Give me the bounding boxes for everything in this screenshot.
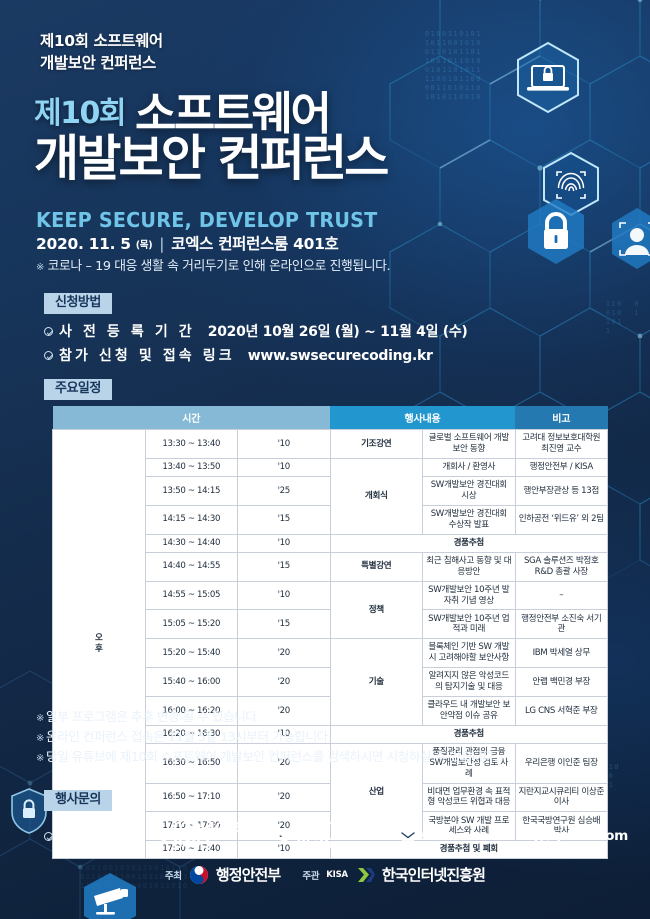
title-line2: 개발보안 컨퍼런스 [34,134,554,184]
section-badge-apply: 신청방법 [44,293,112,314]
cell-duration: '10 [238,458,331,476]
binary-code-texture-b: 110 0 010 1 101 1 [606,300,640,336]
cell-time: 15:05 ~ 15:20 [145,610,238,639]
apply-info-block: 사 전 등 록 기 간 2020년 10월 26일 (월) ~ 11월 4일 (… [44,321,468,369]
covid-notice: ※ 코로나 – 19 대응 생활 속 거리두기로 인해 온라인으로 진행됩니다. [36,255,390,274]
host-group: 주최 행정안전부 [165,864,280,885]
cell-speaker-note: 지란지교시큐리티 이상준 이사 [515,783,608,812]
cell-speaker-note: 행정안전부 소진숙 서기관 [515,610,608,639]
check-circle-icon [44,327,53,336]
face-id-icon [608,206,650,272]
event-venue: 코엑스 컨퍼런스룸 401호 [171,232,338,254]
cell-speaker-note: 안랩 백민경 부장 [515,668,608,697]
fax-icon [277,830,291,843]
apply-period-label: 사 전 등 록 기 간 [59,321,195,341]
cell-session-title: SW개발보안 경진대회 시상 [423,476,516,505]
cell-duration: '15 [238,505,331,534]
footer-logos: 주최 행정안전부 주관 KISA 한국인터넷진흥원 [0,864,650,885]
apply-period-value: 2020년 10월 26일 (월) ~ 11월 4일 (수) [208,321,468,341]
cell-time: 13:30 ~ 13:40 [145,430,238,459]
note-line: ※일부 프로그램은 추후 변경 될 수 있습니다. [36,707,498,727]
note-text: 온라인 컨퍼런스 접속은 11월 5일 13시부터 가능합니다. [46,729,331,744]
host-label: 주최 [165,868,182,882]
kisa-wordmark: KISA [326,870,348,880]
inquiry-fax-number: 070-7545-8526 [296,820,378,852]
mini-title-line2: 개발보안 컨퍼런스 [40,52,163,74]
organizer-name: 한국인터넷진흥원 [382,864,485,885]
note-line: ※온라인 컨퍼런스 접속은 11월 5일 13시부터 가능합니다. [36,727,498,747]
cell-time: 14:15 ~ 14:30 [145,505,238,534]
envelope-icon [401,830,415,843]
inquiry-contact-row: 운 영 사 무 국 070-4006-8493 070-7545-8526 sw… [44,816,650,856]
schedule-table-body: 오 후13:30 ~ 13:40'10기조강연글로벌 소프트웨어 개발보안 동향… [53,430,608,859]
table-row: 오 후13:30 ~ 13:40'10기조강연글로벌 소프트웨어 개발보안 동향… [53,430,608,459]
organizer-label: 주관 [302,868,319,882]
cell-duration: '10 [238,581,331,610]
cell-session-title: 비대면 업무환경 속 표적형 악성코드 위협과 대응 [423,783,516,812]
padlock-icon [524,196,588,268]
cell-session-title: 블록체인 기반 SW 개발 시 고려해야할 보안사항 [423,639,516,668]
section-badge-schedule: 주요일정 [44,379,112,400]
government-taegeuk-icon [189,865,209,885]
cell-session-title: SW개발보안 10주년 업적과 미래 [423,610,516,639]
cell-session-title: SW개발보안 경진대회 수상작 발표 [423,505,516,534]
mini-title: 제10회 소프트웨어 개발보안 컨퍼런스 [40,30,163,74]
title-ordinal: 제10회 [34,88,125,136]
cell-speaker-note: LG CNS 서혁준 부장 [515,696,608,725]
cell-duration: '20 [238,783,331,812]
apply-link-label: 참가 신청 및 접속 링크 [59,345,235,365]
cell-speaker-note: 행정안전부 / KISA [515,458,608,476]
note-text: 일부 프로그램은 추후 변경 될 수 있습니다. [46,709,260,724]
note-asterisk: ※ [36,733,44,744]
cell-speaker-note: 우리은행 이인준 팀장 [515,743,608,783]
cell-duration: '20 [238,668,331,697]
covid-notice-text: 코로나 – 19 대응 생활 속 거리두기로 인해 온라인으로 진행됩니다. [48,259,391,274]
cell-speaker-note: IBM 박세열 상무 [515,639,608,668]
apply-row: 참가 신청 및 접속 링크 www.swsecurecoding.kr [44,345,468,365]
inquiry-fax[interactable]: 070-7545-8526 [277,820,378,852]
section-badge-inquiry: 행사문의 [44,790,112,811]
event-date: 2020. 11. 5 [36,235,131,253]
schedule-header-row: 시간 행사내용 비고 [53,406,608,430]
cell-category: 특별강연 [330,552,423,581]
page-title: 제10회 소프트웨어 개발보안 컨퍼런스 [34,88,554,184]
mini-title-line1: 제10회 소프트웨어 [40,30,163,52]
cell-session-title: 개회사 / 환영사 [423,458,516,476]
cell-duration: '15 [238,610,331,639]
inquiry-org-label: 운 영 사 무 국 [59,816,142,856]
covid-asterisk: ※ [36,262,44,273]
apply-row: 사 전 등 록 기 간 2020년 10월 26일 (월) ~ 11월 4일 (… [44,321,468,341]
cell-session-title: SW개발보안 10주년 발자취 기념 영상 [423,581,516,610]
cell-full-width-note: 경품추첨 [330,534,608,552]
kisa-logo-icon [355,866,375,884]
cell-duration: '15 [238,552,331,581]
notes-block: ※일부 프로그램은 추후 변경 될 수 있습니다. ※온라인 컨퍼런스 접속은 … [36,707,498,767]
schedule-table: 시간 행사내용 비고 오 후13:30 ~ 13:40'10기조강연글로벌 소프… [52,406,608,859]
note-text: 당일 유튜브에 제10회 소프트웨어 개발보안 컨퍼런스를 검색하시면 시청하실… [46,749,498,764]
cell-speaker-note: SGA 솔루션즈 박정호 R&D 총괄 사장 [515,552,608,581]
cell-time: 14:30 ~ 14:40 [145,534,238,552]
cell-session-title: 알려지지 않은 악성코드의 탐지기술 및 대응 [423,668,516,697]
cell-speaker-note: 고려대 정보보호대학원 최진영 교수 [515,430,608,459]
cell-category: 기조강연 [330,430,423,459]
check-circle-icon [44,832,53,841]
column-header-time: 시간 [53,406,331,430]
cell-speaker-note: 인하공전 ‘위드유’ 외 2팀 [515,505,608,534]
column-header-note: 비고 [515,406,608,430]
cell-time: 14:55 ~ 15:05 [145,581,238,610]
column-header-content: 행사내용 [330,406,515,430]
note-line: ※당일 유튜브에 제10회 소프트웨어 개발보안 컨퍼런스를 검색하시면 시청하… [36,747,498,767]
event-day-of-week: (목) [136,237,153,251]
note-asterisk: ※ [36,753,44,764]
organizer-group: 주관 KISA 한국인터넷진흥원 [302,864,485,885]
inquiry-email-address: swsecurecoding@gmail.com [420,828,628,844]
datetime-divider: | [159,235,164,253]
cell-duration: '25 [238,476,331,505]
event-datetime: 2020. 11. 5 (목) | 코엑스 컨퍼런스룸 401호 [36,232,339,254]
cell-duration: '10 [238,430,331,459]
phone-icon [154,830,168,843]
inquiry-email[interactable]: swsecurecoding@gmail.com [401,828,628,844]
inquiry-phone[interactable]: 070-4006-8493 [154,820,255,852]
cell-session-title: 글로벌 소프트웨어 개발보안 동향 [423,430,516,459]
cell-duration: '20 [238,639,331,668]
apply-link-url[interactable]: www.swsecurecoding.kr [248,348,433,364]
cell-session-title: 최근 침해사고 동향 및 대응방안 [423,552,516,581]
schedule-table-wrap: 시간 행사내용 비고 오 후13:30 ~ 13:40'10기조강연글로벌 소프… [52,406,608,859]
cell-speaker-note: – [515,581,608,610]
cell-time: 15:20 ~ 15:40 [145,639,238,668]
cell-time: 15:40 ~ 16:00 [145,668,238,697]
note-asterisk: ※ [36,713,44,724]
cell-speaker-note: 행안부장관상 등 13점 [515,476,608,505]
cell-time: 16:50 ~ 17:10 [145,783,238,812]
check-circle-icon [44,351,53,360]
inquiry-phone-number: 070-4006-8493 [173,820,255,852]
cell-time: 13:40 ~ 13:50 [145,458,238,476]
host-name: 행정안전부 [216,864,281,885]
cell-duration: '10 [238,534,331,552]
cell-time: 14:40 ~ 14:55 [145,552,238,581]
cell-time: 13:50 ~ 14:15 [145,476,238,505]
poster-canvas: 0100110101 1011001010 0110101101 1001011… [0,0,650,919]
cell-category: 개회식 [330,458,423,534]
tagline: KEEP SECURE, DEVELOP TRUST [36,208,377,232]
cell-category: 정책 [330,581,423,639]
